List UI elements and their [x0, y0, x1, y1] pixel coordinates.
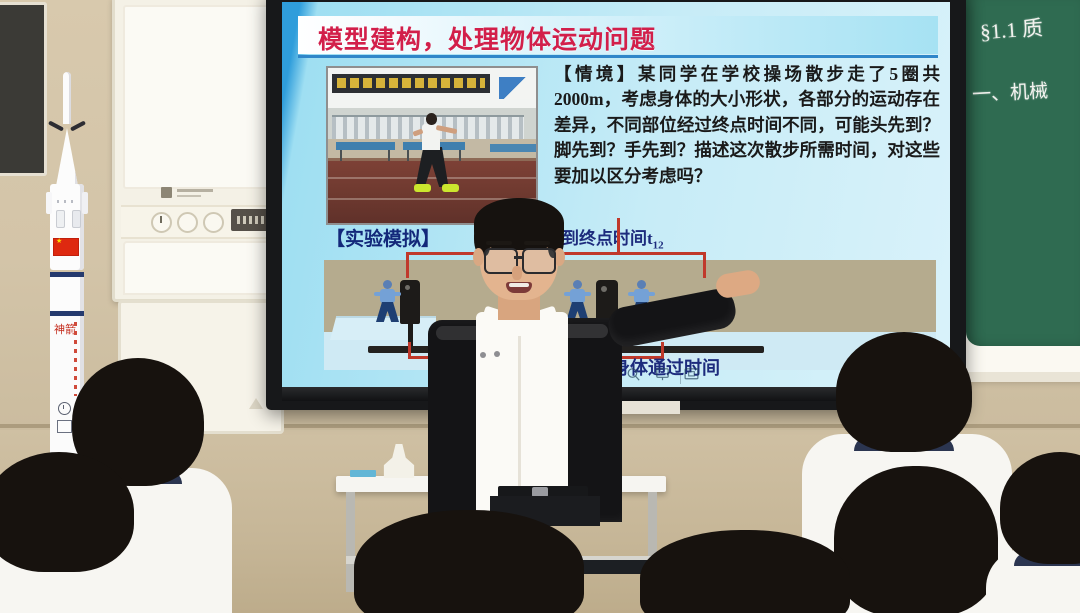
rocket-window-right — [72, 210, 81, 228]
photo-student-shoe-left — [414, 184, 431, 192]
diagram-figure-start — [374, 280, 400, 322]
teacher-eyebrow-left — [486, 241, 512, 245]
teacher-shirt-placket — [518, 336, 521, 496]
student-hair — [1000, 452, 1080, 564]
bracket-top-left — [406, 252, 409, 278]
figure-torso — [380, 289, 395, 303]
glasses-bridge — [514, 256, 522, 259]
teacher-ear-left — [473, 248, 484, 266]
cabinet-knob-2[interactable] — [177, 212, 198, 233]
student-far-right — [1000, 452, 1080, 613]
figure-head — [383, 280, 392, 289]
cabinet-brand-subtext — [177, 195, 201, 197]
scenario-text: 【情境】某同学在学校操场散步走了5圈共2000m，考虑身体的大小形状，各部分的运… — [554, 62, 940, 189]
cabinet-brand-text — [177, 189, 213, 192]
green-chalkboard — [966, 0, 1080, 346]
rocket-escape-fin-left — [48, 120, 64, 131]
student-hair — [0, 452, 134, 572]
teacher-shoulder-highlight-right — [558, 324, 608, 338]
rocket-shoulder-right — [82, 192, 88, 214]
student-hair — [834, 466, 998, 613]
photo-lane-line-1 — [328, 177, 536, 179]
photo-pingpong-table-3 — [490, 144, 536, 152]
bracket-bottom-left — [408, 342, 411, 359]
rocket-shoulder-left — [46, 192, 52, 214]
rocket-tip — [63, 72, 71, 124]
student-center-bottom — [354, 510, 584, 613]
panel-triangle-icon — [249, 398, 263, 409]
photo-student-head — [426, 113, 437, 125]
teacher-eyebrow-right — [524, 241, 550, 245]
cabinet-lower-panel — [123, 241, 277, 295]
teacher-shoulder-highlight-left — [436, 326, 484, 340]
jacket-snap-2 — [494, 351, 500, 357]
rocket-nose-cone — [56, 128, 78, 186]
slide-title-underline — [298, 55, 938, 58]
rocket-label-cn: 神箭 — [54, 324, 76, 336]
rocket-escape-fin-right — [70, 120, 86, 131]
rocket-window-left — [56, 210, 65, 228]
cabinet-upper-panel — [123, 5, 277, 189]
student-hair — [354, 510, 584, 613]
teacher-nose — [512, 266, 522, 280]
chalkboard-line-1: §1.1 质 — [979, 12, 1044, 46]
student-far-left — [0, 452, 164, 613]
cabinet-knob-3[interactable] — [203, 212, 224, 233]
classroom-screenshot: 神箭 CZ- §1.1 质 一、机械 模型建构，处理物体运动问题 — [0, 0, 1080, 613]
student-hair — [836, 332, 972, 452]
rocket-vent-dots — [57, 200, 77, 203]
photo-awning — [499, 77, 536, 99]
teacher-mouth — [506, 282, 532, 293]
cabinet-brand-logo-icon — [161, 187, 172, 198]
jacket-snap-1 — [480, 352, 486, 358]
desk-blue-item — [350, 470, 376, 477]
photogate-sensor-left — [400, 280, 420, 324]
teacher — [418, 196, 718, 526]
student-hair — [640, 530, 850, 613]
left-wall-dark-board — [0, 2, 47, 176]
photo-student-shoe-right — [442, 184, 459, 192]
wall-appliance-cabinet — [112, 0, 288, 302]
photo-banner — [332, 74, 490, 93]
student-center-right-bottom — [640, 530, 850, 613]
photo-pingpong-table-1 — [336, 142, 394, 150]
cabinet-knob-1[interactable] — [151, 212, 172, 233]
glasses-lens-right — [522, 248, 556, 274]
figure-legs — [376, 302, 399, 322]
rocket-mid-stage — [50, 277, 84, 311]
slide-title: 模型建构，处理物体运动问题 — [318, 20, 656, 56]
chinese-flag-icon — [53, 238, 79, 256]
chalkboard-line-2: 一、机械 — [971, 76, 1048, 107]
